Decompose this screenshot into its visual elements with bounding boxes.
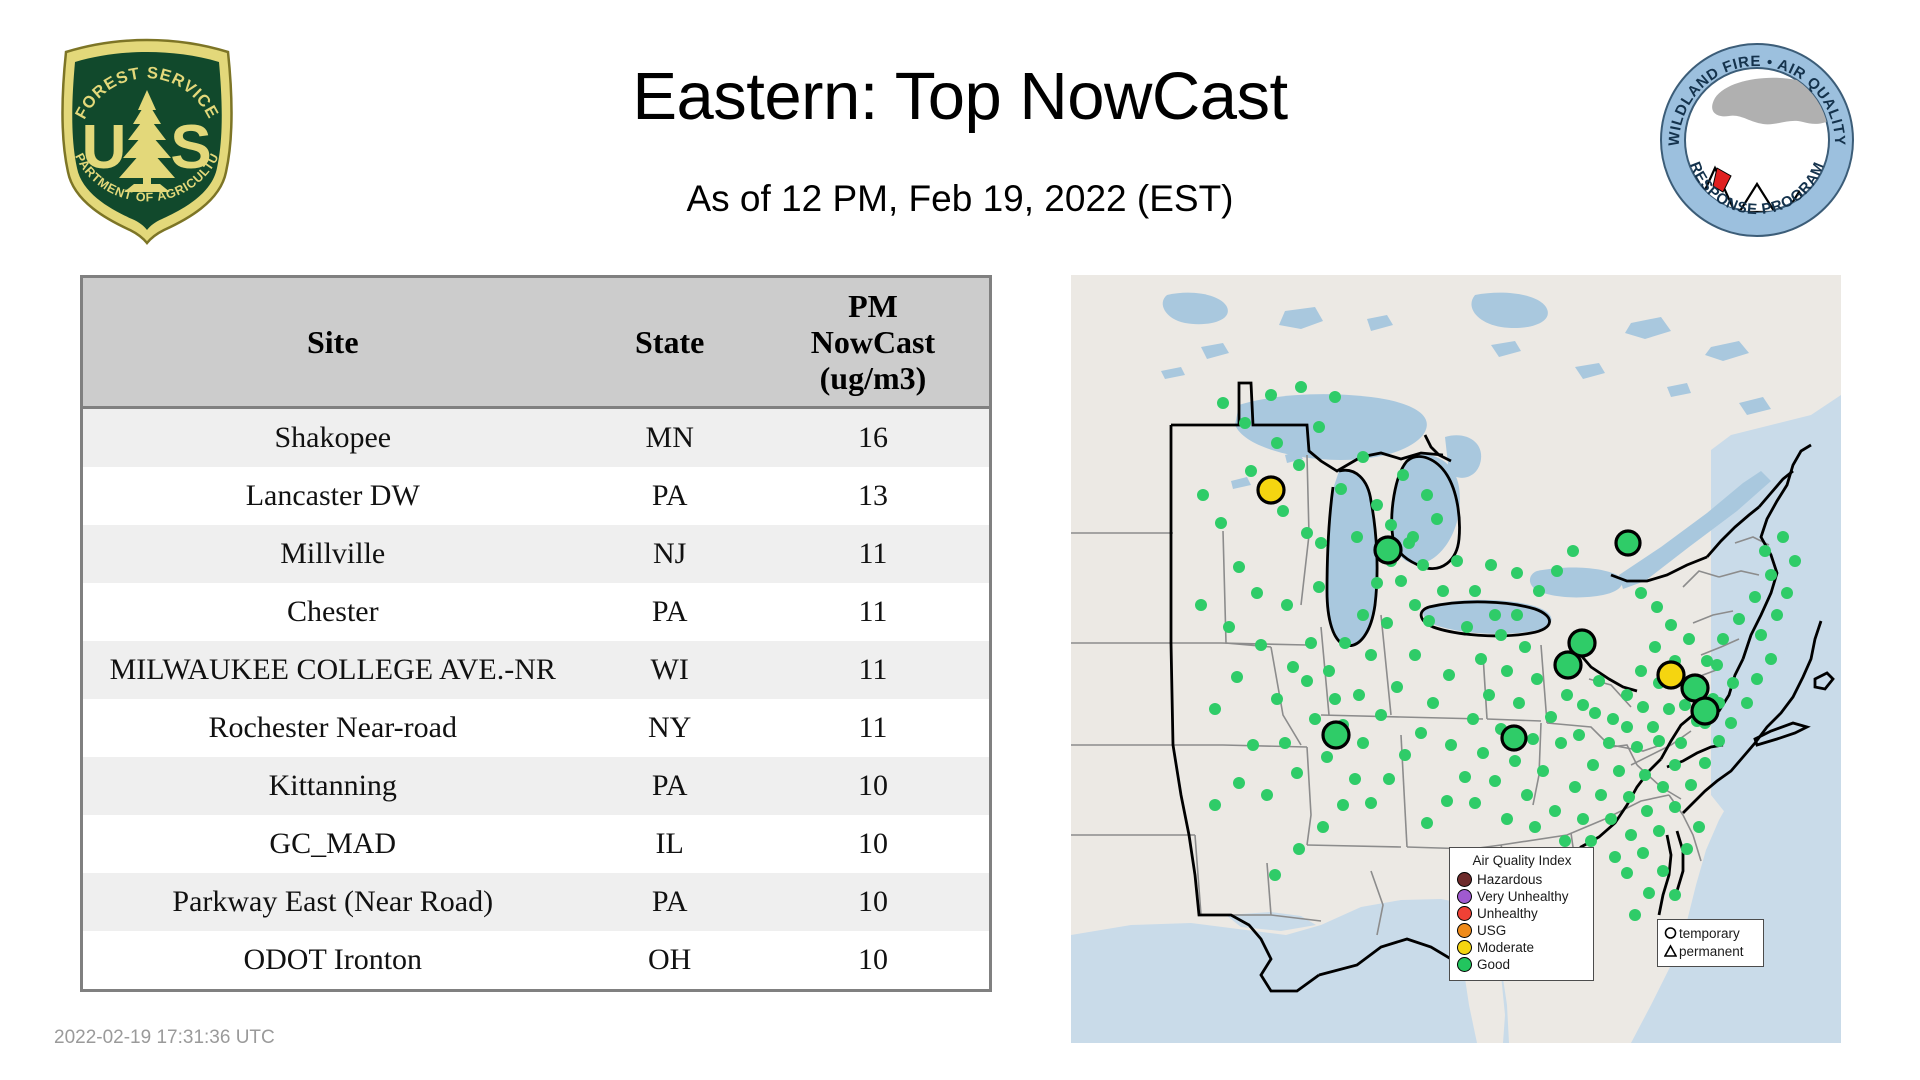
site-type-temporary-label: temporary xyxy=(1679,927,1740,941)
site-marker-good[interactable] xyxy=(1555,652,1581,678)
page-title: Eastern: Top NowCast xyxy=(300,58,1620,135)
table-cell-site: ODOT Ironton xyxy=(83,931,583,989)
aqi-legend-label: Good xyxy=(1477,958,1510,972)
table-row[interactable]: Parkway East (Near Road)PA10 xyxy=(83,873,989,931)
site-type-permanent-label: permanent xyxy=(1679,945,1744,959)
table-cell-site: Chester xyxy=(83,583,583,641)
aqi-swatch-icon xyxy=(1457,889,1472,904)
aqi-legend-item: USG xyxy=(1457,922,1587,939)
circle-icon xyxy=(1662,926,1679,942)
column-header-pm-line1: PM xyxy=(761,288,985,324)
table-cell-state: PA xyxy=(583,757,757,815)
table-cell-state: NY xyxy=(583,699,757,757)
table-cell-pm-nowcast: 11 xyxy=(757,699,989,757)
table-cell-site: Rochester Near-road xyxy=(83,699,583,757)
table-body: ShakopeeMN16Lancaster DWPA13MillvilleNJ1… xyxy=(83,408,989,990)
air-quality-map[interactable]: Air Quality Index HazardousVery Unhealth… xyxy=(1071,275,1841,1043)
column-header-pm-line3: (ug/m3) xyxy=(761,360,985,396)
table-row[interactable]: Lancaster DWPA13 xyxy=(83,467,989,525)
aqi-legend-item: Hazardous xyxy=(1457,871,1587,888)
site-marker-good[interactable] xyxy=(1616,531,1640,555)
column-header-site[interactable]: Site xyxy=(83,278,583,408)
table-cell-site: GC_MAD xyxy=(83,815,583,873)
table-row[interactable]: ShakopeeMN16 xyxy=(83,408,989,468)
aqi-legend-label: USG xyxy=(1477,924,1506,938)
table-cell-site: MILWAUKEE COLLEGE AVE.-NR xyxy=(83,641,583,699)
table-row[interactable]: ODOT IrontonOH10 xyxy=(83,931,989,989)
table-row[interactable]: MILWAUKEE COLLEGE AVE.-NRWI11 xyxy=(83,641,989,699)
site-marker-good[interactable] xyxy=(1323,722,1349,748)
table-header: Site State PM NowCast (ug/m3) xyxy=(83,278,989,408)
table-cell-state: NJ xyxy=(583,525,757,583)
aqi-legend-label: Unhealthy xyxy=(1477,907,1538,921)
table-cell-pm-nowcast: 10 xyxy=(757,873,989,931)
footer-timestamp: 2022-02-19 17:31:36 UTC xyxy=(54,1027,275,1049)
aqi-legend: Air Quality Index HazardousVery Unhealth… xyxy=(1449,847,1594,981)
aqi-swatch-icon xyxy=(1457,923,1472,938)
table-row[interactable]: Rochester Near-roadNY11 xyxy=(83,699,989,757)
site-type-permanent-row: permanent xyxy=(1662,943,1758,961)
table-cell-state: PA xyxy=(583,583,757,641)
aqi-legend-item: Moderate xyxy=(1457,939,1587,956)
table-cell-pm-nowcast: 10 xyxy=(757,815,989,873)
aqi-legend-label: Hazardous xyxy=(1477,873,1542,887)
table-cell-site: Parkway East (Near Road) xyxy=(83,873,583,931)
page-subtitle: As of 12 PM, Feb 19, 2022 (EST) xyxy=(300,178,1620,220)
table-cell-state: PA xyxy=(583,873,757,931)
table-row[interactable]: MillvilleNJ11 xyxy=(83,525,989,583)
table-cell-pm-nowcast: 11 xyxy=(757,583,989,641)
table-row[interactable]: KittanningPA10 xyxy=(83,757,989,815)
table-cell-state: IL xyxy=(583,815,757,873)
aqi-legend-label: Very Unhealthy xyxy=(1477,890,1569,904)
aqi-legend-item: Unhealthy xyxy=(1457,905,1587,922)
table-cell-state: WI xyxy=(583,641,757,699)
table-cell-site: Shakopee xyxy=(83,408,583,468)
nowcast-table: Site State PM NowCast (ug/m3) ShakopeeMN… xyxy=(80,275,992,992)
header: U S FOREST SERVICE DEPARTMENT OF AGRICUL… xyxy=(0,0,1920,270)
aqi-swatch-icon xyxy=(1457,872,1472,887)
table-cell-pm-nowcast: 10 xyxy=(757,757,989,815)
column-header-pm-nowcast[interactable]: PM NowCast (ug/m3) xyxy=(757,278,989,408)
table-cell-pm-nowcast: 11 xyxy=(757,525,989,583)
table-header-row: Site State PM NowCast (ug/m3) xyxy=(83,278,989,408)
table-cell-site: Kittanning xyxy=(83,757,583,815)
site-marker-good[interactable] xyxy=(1692,698,1718,724)
site-marker-moderate[interactable] xyxy=(1258,477,1284,503)
aqi-legend-label: Moderate xyxy=(1477,941,1534,955)
aqi-swatch-icon xyxy=(1457,957,1472,972)
table-row[interactable]: ChesterPA11 xyxy=(83,583,989,641)
table-cell-pm-nowcast: 10 xyxy=(757,931,989,989)
table-cell-state: MN xyxy=(583,408,757,468)
table-cell-pm-nowcast: 11 xyxy=(757,641,989,699)
aqi-legend-rows: HazardousVery UnhealthyUnhealthyUSGModer… xyxy=(1457,871,1587,973)
site-marker-good[interactable] xyxy=(1502,726,1526,750)
table-cell-state: OH xyxy=(583,931,757,989)
site-marker-good[interactable] xyxy=(1375,537,1401,563)
table-row[interactable]: GC_MADIL10 xyxy=(83,815,989,873)
table-cell-pm-nowcast: 13 xyxy=(757,467,989,525)
site-type-legend: temporary permanent xyxy=(1657,919,1764,967)
aqi-legend-item: Very Unhealthy xyxy=(1457,888,1587,905)
column-header-pm-line2: NowCast xyxy=(761,324,985,360)
aqi-swatch-icon xyxy=(1457,906,1472,921)
table-cell-pm-nowcast: 16 xyxy=(757,408,989,468)
table-cell-site: Lancaster DW xyxy=(83,467,583,525)
table-cell-state: PA xyxy=(583,467,757,525)
site-type-temporary-row: temporary xyxy=(1662,925,1758,943)
table-cell-site: Millville xyxy=(83,525,583,583)
aqi-legend-item: Good xyxy=(1457,956,1587,973)
aqi-swatch-icon xyxy=(1457,940,1472,955)
wfaqrp-logo: WILDLAND FIRE • AIR QUALITY RESPONSE PRO… xyxy=(1657,40,1857,240)
column-header-state[interactable]: State xyxy=(583,278,757,408)
aqi-legend-title: Air Quality Index xyxy=(1457,853,1587,868)
usfs-shield-logo: U S FOREST SERVICE DEPARTMENT OF AGRICUL… xyxy=(52,30,242,245)
triangle-icon xyxy=(1662,944,1679,960)
site-marker-moderate[interactable] xyxy=(1658,662,1684,688)
